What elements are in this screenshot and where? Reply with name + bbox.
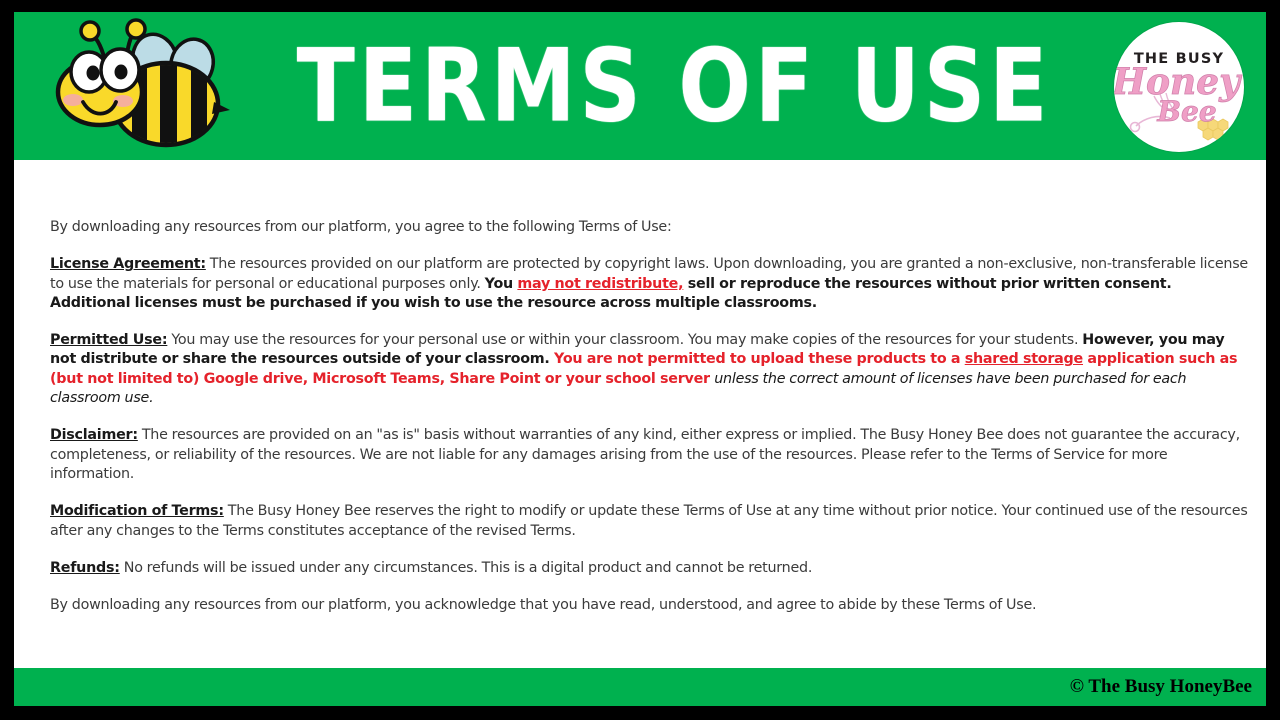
footer-banner: © The Busy HoneyBee (14, 668, 1266, 706)
header-banner: TERMS OF USE (14, 12, 1266, 160)
license-heading: License Agreement: (50, 256, 206, 272)
license-paragraph: License Agreement: The resources provide… (50, 255, 1254, 313)
permitted-text-7: . (149, 390, 153, 406)
bee-mascot-icon (48, 18, 238, 158)
logo-line3: Bee (1156, 95, 1216, 128)
disclaimer-heading: Disclaimer: (50, 427, 138, 443)
shared-storage-warning: shared storage (965, 351, 1083, 367)
page-title: TERMS OF USE (254, 12, 1094, 160)
disclaimer-paragraph: Disclaimer: The resources are provided o… (50, 426, 1254, 484)
disclaimer-text: The resources are provided on an "as is"… (50, 427, 1240, 482)
intro-paragraph: By downloading any resources from our pl… (50, 218, 1254, 237)
slide-page: TERMS OF USE (0, 0, 1280, 720)
brand-logo: THE BUSY Honey Bee (1114, 22, 1244, 152)
refunds-paragraph: Refunds: No refunds will be issued under… (50, 559, 1254, 578)
license-redistribute-warning: may not redistribute, (517, 276, 683, 292)
refunds-text: No refunds will be issued under any circ… (120, 560, 812, 576)
permitted-use-heading: Permitted Use: (50, 332, 167, 348)
permitted-red-text-3: You are not permitted to upload these pr… (554, 351, 965, 367)
terms-body: By downloading any resources from our pl… (14, 160, 1266, 668)
permitted-use-paragraph: Permitted Use: You may use the resources… (50, 331, 1254, 408)
page-title-text: TERMS OF USE (297, 38, 1052, 134)
copyright-text: © The Busy HoneyBee (1070, 676, 1252, 698)
refunds-heading: Refunds: (50, 560, 120, 576)
modification-paragraph: Modification of Terms: The Busy Honey Be… (50, 502, 1254, 541)
license-text-2: You (485, 276, 518, 292)
closing-paragraph: By downloading any resources from our pl… (50, 596, 1254, 615)
permitted-text-1: You may use the resources for your perso… (167, 332, 1082, 348)
modification-text: The Busy Honey Bee reserves the right to… (50, 503, 1248, 538)
modification-heading: Modification of Terms: (50, 503, 224, 519)
slide-canvas: TERMS OF USE (14, 12, 1266, 706)
